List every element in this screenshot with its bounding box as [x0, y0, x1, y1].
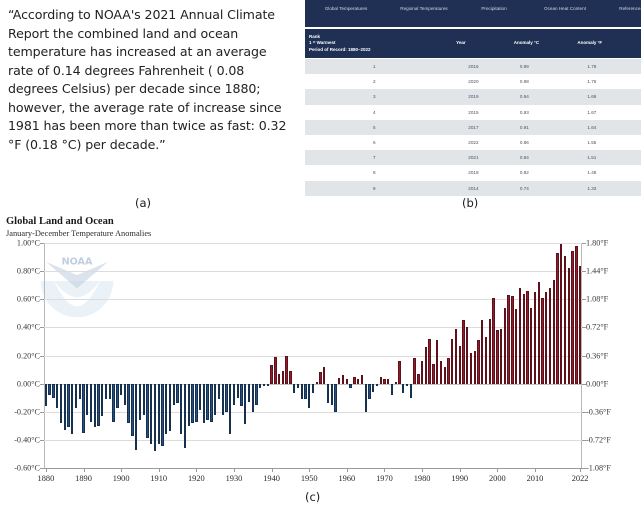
chart-bar: [459, 346, 461, 384]
x-tick: [159, 468, 160, 472]
chart-bar: [538, 282, 540, 383]
rank-cell: 6: [309, 140, 456, 145]
chart-bar: [188, 384, 190, 426]
anomaly-c-cell: 0.84: [514, 155, 578, 160]
chart-bar: [120, 384, 122, 395]
chart-bar: [331, 384, 333, 405]
chart-bar: [109, 384, 111, 399]
gridline: [44, 412, 582, 413]
chart-bar: [560, 244, 562, 383]
tab-references[interactable]: References: [603, 4, 641, 13]
chart-bar: [229, 384, 231, 435]
gridline: [44, 468, 582, 469]
x-tick-label: 1900: [113, 474, 130, 483]
x-tick-label: 1940: [263, 474, 280, 483]
x-tick-label: 2010: [527, 474, 544, 483]
chart-bar: [240, 384, 242, 407]
chart-bar: [165, 384, 167, 435]
y-tick-label-fahrenheit: 0.72°F: [586, 323, 608, 332]
chart-bar: [425, 347, 427, 384]
y-tick-label-celsius: -0.40°C: [14, 435, 40, 444]
chart-bar: [334, 384, 336, 412]
chart-bar: [191, 384, 193, 423]
y-tick-label-celsius: 0.20°C: [17, 351, 40, 360]
chart-bar: [270, 365, 272, 383]
chart-bar: [470, 353, 472, 384]
panel-a-quote: “According to NOAA's 2021 Annual Climate…: [0, 0, 300, 190]
chart-bar: [255, 384, 257, 405]
chart-bar: [45, 384, 47, 407]
chart-bar: [143, 384, 145, 415]
chart-bar: [150, 384, 152, 444]
anomaly-c-cell: 0.94: [514, 94, 578, 99]
chart-bar: [496, 330, 498, 383]
chart-bar: [579, 266, 581, 384]
y-tick-left: [40, 299, 44, 300]
chart-bar: [259, 384, 261, 388]
chart-bar: [410, 384, 412, 398]
anomaly-f-cell: 1.76: [577, 79, 637, 84]
chart-bar: [417, 374, 419, 384]
anomaly-f-cell: 1.78: [577, 64, 637, 69]
chart-title: Global Land and Ocean: [6, 216, 114, 227]
chart-bar: [75, 384, 77, 408]
chart-bar: [541, 298, 543, 384]
caption-c: (c): [305, 490, 320, 504]
y-tick-label-fahrenheit: 0.36°F: [586, 351, 608, 360]
chart-bar: [477, 340, 479, 384]
year-cell: 2016: [456, 64, 514, 69]
chart-bar: [511, 296, 513, 383]
y-tick-label-celsius: 0.80°C: [17, 267, 40, 276]
chart-bar: [158, 384, 160, 444]
nav-tabbar: Global Temperatures Regional Temperature…: [305, 0, 641, 27]
tab-ocean-heat-content[interactable]: Ocean Heat Content: [527, 4, 603, 13]
tab-regional-temperatures[interactable]: Regional Temperatures: [387, 4, 461, 13]
chart-bar: [60, 384, 62, 423]
chart-bar: [398, 361, 400, 384]
chart-bar: [94, 384, 96, 428]
chart-bar: [180, 384, 182, 435]
rank-cell: 3: [309, 94, 456, 99]
noaa-quote-text: “According to NOAA's 2021 Annual Climate…: [0, 0, 300, 154]
y-tick-label-fahrenheit: -0.36°F: [586, 407, 611, 416]
table-row: 420150.931.67: [305, 105, 641, 120]
x-tick-label: 1960: [338, 474, 355, 483]
rank-cell: 9: [309, 186, 456, 191]
chart-bar: [474, 351, 476, 383]
chart-bar: [116, 384, 118, 408]
chart-bar: [338, 378, 340, 384]
y-tick-label-celsius: 0.60°C: [17, 295, 40, 304]
chart-bar: [195, 384, 197, 422]
chart-bar: [402, 384, 404, 394]
chart-bar: [500, 329, 502, 384]
chart-bar: [139, 384, 141, 421]
chart-bar: [568, 268, 570, 383]
chart-bar: [112, 384, 114, 422]
chart-bar: [526, 291, 528, 384]
anomaly-c-cell: 0.86: [514, 140, 578, 145]
x-tick: [347, 468, 348, 472]
chart-bar: [210, 384, 212, 422]
table-row: 220200.981.76: [305, 74, 641, 89]
y-tick-label-fahrenheit: 1.44°F: [586, 267, 608, 276]
chart-bar: [365, 384, 367, 412]
y-tick-left: [40, 271, 44, 272]
chart-bar: [79, 384, 81, 399]
chart-bar: [444, 367, 446, 384]
chart-bar: [436, 340, 438, 384]
x-tick: [196, 468, 197, 472]
anomaly-c-cell: 0.98: [514, 79, 578, 84]
x-tick: [272, 468, 273, 472]
chart-bar: [267, 384, 269, 387]
anomaly-f-cell: 1.51: [577, 155, 637, 160]
chart-bar: [52, 384, 54, 398]
chart-bar: [327, 384, 329, 404]
chart-bar: [387, 379, 389, 383]
rank-cell: 7: [309, 155, 456, 160]
chart-bar: [383, 379, 385, 383]
rank-cell: 1: [309, 64, 456, 69]
y-tick-label-fahrenheit: -0.72°F: [586, 435, 611, 444]
x-tick-label: 1950: [301, 474, 318, 483]
x-tick: [460, 468, 461, 472]
chart-bar: [376, 384, 378, 387]
chart-bar: [553, 280, 555, 384]
chart-bar: [564, 256, 566, 384]
tab-global-temperatures[interactable]: Global Temperatures: [305, 4, 387, 13]
anomaly-f-cell: 1.64: [577, 125, 637, 130]
chart-bar: [361, 375, 363, 383]
x-tick: [84, 468, 85, 472]
chart-bar: [203, 384, 205, 423]
chart-bar: [301, 384, 303, 399]
x-tick: [497, 468, 498, 472]
anomaly-c-cell: 0.99: [514, 64, 578, 69]
chart-bar: [225, 384, 227, 412]
chart-bar: [131, 384, 133, 436]
x-tick-label: 1990: [451, 474, 468, 483]
chart-bar: [556, 253, 558, 384]
table-row: 320190.941.69: [305, 89, 641, 104]
table-row: 920140.741.33: [305, 181, 641, 196]
y-tick-label-fahrenheit: 0.00°F: [586, 379, 608, 388]
chart-bar: [127, 384, 129, 423]
year-cell: 2014: [456, 186, 514, 191]
chart-bar: [451, 339, 453, 384]
y-tick-left: [40, 468, 44, 469]
y-tick-label-celsius: -0.60°C: [14, 464, 40, 473]
chart-subtitle: January-December Temperature Anomalies: [6, 229, 151, 238]
chart-bar: [90, 384, 92, 422]
gridline: [44, 440, 582, 441]
chart-bar: [199, 384, 201, 411]
chart-bar: [67, 384, 69, 428]
anomaly-f-cell: 1.48: [577, 170, 637, 175]
x-tick-label: 1910: [150, 474, 167, 483]
chart-bar: [316, 382, 318, 384]
chart-bar: [447, 358, 449, 383]
x-tick-label: 1880: [38, 474, 55, 483]
chart-bar: [169, 384, 171, 432]
y-tick-left: [40, 356, 44, 357]
chart-bar: [154, 384, 156, 452]
chart-bar: [432, 364, 434, 384]
chart-bar: [413, 358, 415, 383]
chart-bar: [135, 384, 137, 450]
chart-bar: [545, 292, 547, 383]
chart-bar: [304, 384, 306, 399]
x-tick: [46, 468, 47, 472]
chart-bar: [282, 371, 284, 384]
table-row: 520170.911.64: [305, 120, 641, 135]
panel-c-chart: Global Land and Ocean January-December T…: [0, 214, 641, 484]
column-header-rank: Rank 1 = Warmest Period of Record: 1880–…: [309, 34, 456, 53]
gridline: [44, 243, 582, 244]
chart-bar: [492, 298, 494, 384]
rank-cell: 5: [309, 125, 456, 130]
chart-bar: [56, 384, 58, 408]
chart-bar: [455, 329, 457, 384]
column-header-rank-line3: Period of Record: 1880–2022: [309, 47, 456, 53]
chart-bar: [252, 384, 254, 412]
chart-bar: [285, 356, 287, 384]
caption-a: (a): [135, 196, 151, 210]
panel-b-noaa-table: Global Temperatures Regional Temperature…: [305, 0, 641, 190]
y-tick-left: [40, 243, 44, 244]
year-cell: 2021: [456, 155, 514, 160]
chart-bar: [124, 384, 126, 405]
anomaly-f-cell: 1.67: [577, 110, 637, 115]
chart-bar: [380, 377, 382, 384]
chart-bar: [222, 384, 224, 415]
chart-bar: [248, 384, 250, 402]
table-row: 720210.841.51: [305, 150, 641, 165]
chart-plot-area: 1.00°C0.80°C0.60°C0.40°C0.20°C0.00°C-0.2…: [44, 243, 582, 468]
chart-bar: [173, 384, 175, 405]
column-header-anomaly-c: Anomaly °C: [514, 40, 578, 46]
x-tick: [121, 468, 122, 472]
chart-bar: [523, 294, 525, 384]
chart-bar: [233, 384, 235, 405]
y-tick-label-celsius: 1.00°C: [17, 239, 40, 248]
anomaly-f-cell: 1.33: [577, 186, 637, 191]
chart-bar: [406, 384, 408, 386]
y-tick-left: [40, 440, 44, 441]
x-tick: [384, 468, 385, 472]
chart-bar: [319, 372, 321, 383]
chart-bar: [323, 367, 325, 384]
y-tick-label-celsius: 0.00°C: [17, 379, 40, 388]
chart-bar: [391, 384, 393, 395]
x-tick-label: 2000: [489, 474, 506, 483]
chart-bar: [575, 246, 577, 384]
y-tick-label-fahrenheit: -1.08°F: [586, 464, 611, 473]
chart-bar: [297, 384, 299, 388]
x-tick: [422, 468, 423, 472]
rank-cell: 2: [309, 79, 456, 84]
year-cell: 2022: [456, 140, 514, 145]
x-tick-label: 1970: [376, 474, 393, 483]
chart-bar: [372, 384, 374, 392]
chart-bar: [97, 384, 99, 426]
chart-bar: [263, 384, 265, 387]
gridline: [44, 271, 582, 272]
tab-precipitation[interactable]: Precipitation: [461, 4, 527, 13]
chart-bar: [176, 384, 178, 404]
chart-bar: [571, 251, 573, 383]
chart-bar: [368, 384, 370, 399]
anomaly-c-cell: 0.93: [514, 110, 578, 115]
chart-bar: [214, 384, 216, 415]
year-cell: 2018: [456, 170, 514, 175]
anomaly-f-cell: 1.55: [577, 140, 637, 145]
chart-bar: [244, 384, 246, 425]
x-tick-label: 2022: [572, 474, 589, 483]
table-header-row: Rank 1 = Warmest Period of Record: 1880–…: [305, 29, 641, 58]
chart-bar: [466, 327, 468, 383]
chart-bar: [146, 384, 148, 439]
chart-bar: [440, 361, 442, 384]
year-cell: 2019: [456, 94, 514, 99]
chart-bar: [184, 384, 186, 449]
chart-bar: [289, 371, 291, 384]
year-cell: 2020: [456, 79, 514, 84]
chart-bar: [86, 384, 88, 415]
x-tick: [234, 468, 235, 472]
rank-cell: 8: [309, 170, 456, 175]
chart-bar: [48, 384, 50, 395]
year-cell: 2015: [456, 110, 514, 115]
caption-b: (b): [462, 196, 478, 210]
y-tick-label-fahrenheit: 1.80°F: [586, 239, 608, 248]
chart-bar: [278, 374, 280, 384]
chart-bar: [312, 384, 314, 394]
chart-bar: [342, 375, 344, 383]
rank-cell: 4: [309, 110, 456, 115]
chart-bar: [71, 384, 73, 435]
chart-bar: [549, 288, 551, 384]
table-body: 120160.991.78220200.981.76320190.941.694…: [305, 59, 641, 196]
chart-bar: [462, 320, 464, 383]
column-header-year: Year: [456, 40, 514, 46]
chart-bar: [64, 384, 66, 430]
y-tick-left: [40, 384, 44, 385]
chart-bar: [530, 308, 532, 384]
x-tick: [580, 468, 581, 472]
chart-bar: [489, 319, 491, 384]
table-row: 120160.991.78: [305, 59, 641, 74]
chart-bar: [357, 379, 359, 383]
x-tick: [535, 468, 536, 472]
anomaly-c-cell: 0.82: [514, 170, 578, 175]
x-tick-label: 1920: [188, 474, 205, 483]
chart-bar: [237, 384, 239, 398]
chart-bar: [481, 320, 483, 383]
chart-bar: [507, 295, 509, 384]
y-tick-left: [40, 327, 44, 328]
chart-bar: [485, 337, 487, 383]
chart-bar: [206, 384, 208, 421]
chart-bar: [515, 309, 517, 384]
anomaly-c-cell: 0.74: [514, 186, 578, 191]
x-tick-label: 1890: [75, 474, 92, 483]
x-tick-label: 1930: [226, 474, 243, 483]
chart-bar: [353, 377, 355, 384]
y-tick-label-fahrenheit: 1.08°F: [586, 295, 608, 304]
chart-bar: [308, 384, 310, 408]
chart-bar: [428, 339, 430, 384]
chart-bar: [519, 288, 521, 384]
year-cell: 2017: [456, 125, 514, 130]
chart-bar: [293, 384, 295, 394]
table-row: 820180.821.48: [305, 165, 641, 180]
anomaly-c-cell: 0.91: [514, 125, 578, 130]
x-tick: [309, 468, 310, 472]
chart-bar: [274, 357, 276, 384]
chart-bar: [82, 384, 84, 433]
y-tick-label-celsius: 0.40°C: [17, 323, 40, 332]
chart-bar: [349, 384, 351, 388]
column-header-anomaly-f: Anomaly °F: [577, 40, 637, 46]
chart-bar: [105, 384, 107, 399]
chart-bar: [534, 292, 536, 383]
chart-bar: [395, 382, 397, 384]
table-row: 620220.861.55: [305, 135, 641, 150]
x-tick-label: 1980: [414, 474, 431, 483]
y-tick-label-celsius: -0.20°C: [14, 407, 40, 416]
anomaly-f-cell: 1.69: [577, 94, 637, 99]
chart-bar: [161, 384, 163, 446]
chart-bar: [346, 379, 348, 383]
chart-bar: [421, 361, 423, 384]
chart-bar: [101, 384, 103, 416]
chart-bar: [218, 384, 220, 399]
chart-bar: [504, 308, 506, 384]
y-tick-left: [40, 412, 44, 413]
gridline: [44, 299, 582, 300]
